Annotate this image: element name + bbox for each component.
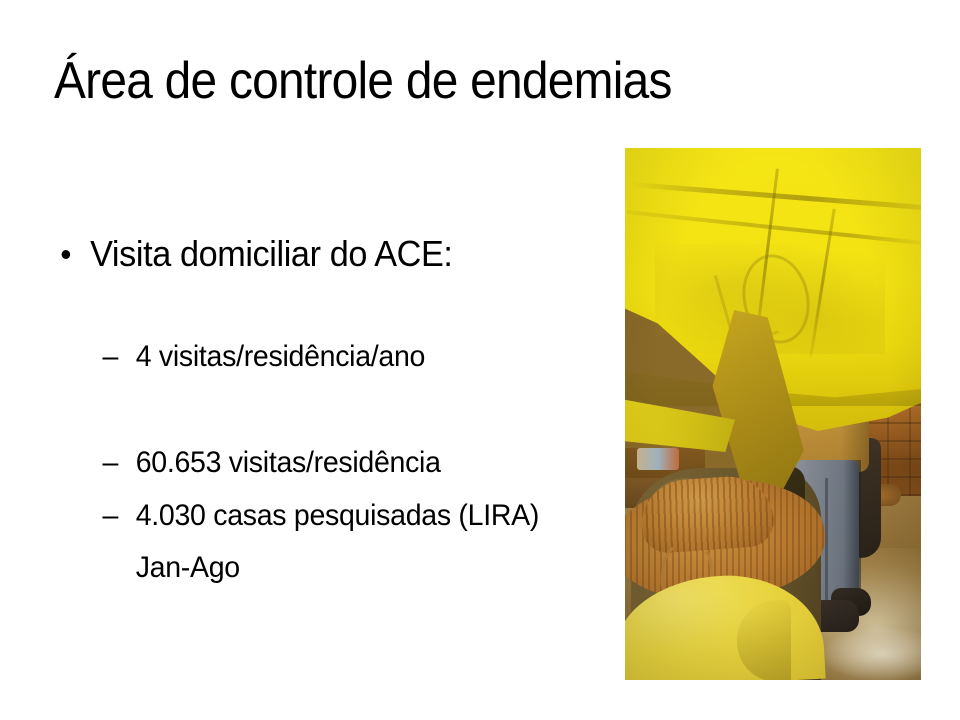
bullet-level2-label-3: 4.030 casas pesquisadas (LIRA) (136, 499, 539, 532)
sub-bullet-list: – 4 visitas/residência/ano – 60.653 visi… (54, 338, 614, 587)
bullet-continuation-label: Jan-Ago (54, 549, 586, 587)
dash-marker-icon: – (102, 497, 118, 535)
photo-vignette (625, 148, 921, 680)
dash-marker-icon: – (102, 338, 118, 376)
bullet-dot-icon (62, 250, 71, 259)
bullet-level2-label-2: 60.653 visitas/residência (136, 446, 441, 479)
dash-marker-icon: – (102, 444, 118, 482)
photo-endemic-control-field-visit (625, 148, 921, 680)
body-content: Visita domiciliar do ACE: – 4 visitas/re… (54, 232, 614, 587)
bullet-level1-label: Visita domiciliar do ACE: (90, 233, 452, 274)
bullet-item-level2-2: – 60.653 visitas/residência (54, 444, 586, 482)
blank-line-spacer (54, 376, 614, 444)
bullet-item-level2-1: – 4 visitas/residência/ano (54, 338, 586, 376)
bullet-item-level2-3: – 4.030 casas pesquisadas (LIRA) (54, 497, 586, 535)
bullet-item-level1: Visita domiciliar do ACE: (54, 232, 586, 276)
slide: Área de controle de endemias Visita domi… (0, 0, 960, 720)
page-title: Área de controle de endemias (54, 52, 808, 110)
bullet-level2-label-1: 4 visitas/residência/ano (136, 340, 425, 373)
